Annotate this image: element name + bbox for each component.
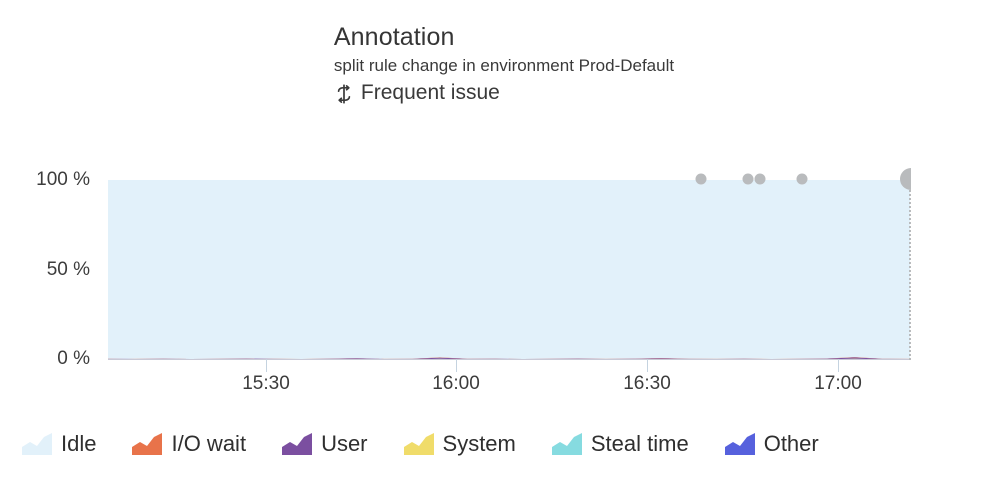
x-tick-mark xyxy=(266,359,267,372)
annotation-title: Annotation xyxy=(334,22,674,52)
area-chart-icon xyxy=(404,433,434,455)
legend-item-io-wait[interactable]: I/O wait xyxy=(132,431,246,457)
area-chart-icon xyxy=(552,433,582,455)
legend-label: System xyxy=(443,431,516,457)
x-tick-label-1700: 17:00 xyxy=(814,373,862,395)
chart-legend: Idle I/O wait User System Steal time Oth… xyxy=(0,424,1008,464)
stacked-area-series xyxy=(108,180,910,360)
annotation-header-inner: Annotation split rule change in environm… xyxy=(334,22,674,106)
area-chart-icon xyxy=(282,433,312,455)
x-tick-label-1600: 16:00 xyxy=(432,373,480,395)
repeat-icon xyxy=(334,84,354,104)
legend-item-idle[interactable]: Idle xyxy=(22,431,96,457)
annotation-badge: Frequent issue xyxy=(334,79,674,106)
y-tick-label-100: 100 % xyxy=(36,169,90,191)
legend-label: I/O wait xyxy=(171,431,246,457)
x-tick-mark xyxy=(456,359,457,372)
x-axis: 15:30 16:00 16:30 17:00 xyxy=(0,359,1008,399)
cpu-usage-chart: 100 % 50 % 0 % 15:30 16:00 16:3 xyxy=(0,150,1008,395)
legend-label: Idle xyxy=(61,431,96,457)
annotation-dot[interactable] xyxy=(755,174,766,185)
annotation-header: Annotation split rule change in environm… xyxy=(0,0,1008,108)
y-tick-label-50: 50 % xyxy=(47,259,90,281)
legend-item-user[interactable]: User xyxy=(282,431,367,457)
x-tick-label-1530: 15:30 xyxy=(242,373,290,395)
annotation-subtitle: split rule change in environment Prod-De… xyxy=(334,54,674,78)
x-tick-label-1630: 16:30 xyxy=(623,373,671,395)
annotation-range-line xyxy=(909,179,911,360)
x-tick-mark xyxy=(647,359,648,372)
legend-label: Other xyxy=(764,431,819,457)
y-axis: 100 % 50 % 0 % xyxy=(0,150,100,365)
annotation-dot[interactable] xyxy=(797,174,808,185)
area-chart-icon xyxy=(22,433,52,455)
area-chart-icon xyxy=(725,433,755,455)
plot-area[interactable] xyxy=(108,180,910,360)
legend-label: User xyxy=(321,431,367,457)
legend-label: Steal time xyxy=(591,431,689,457)
x-tick-mark xyxy=(838,359,839,372)
legend-item-steal-time[interactable]: Steal time xyxy=(552,431,689,457)
area-chart-icon xyxy=(132,433,162,455)
annotation-dot[interactable] xyxy=(696,174,707,185)
annotation-badge-label: Frequent issue xyxy=(361,79,500,106)
legend-item-system[interactable]: System xyxy=(404,431,516,457)
legend-item-other[interactable]: Other xyxy=(725,431,819,457)
annotation-dot[interactable] xyxy=(743,174,754,185)
